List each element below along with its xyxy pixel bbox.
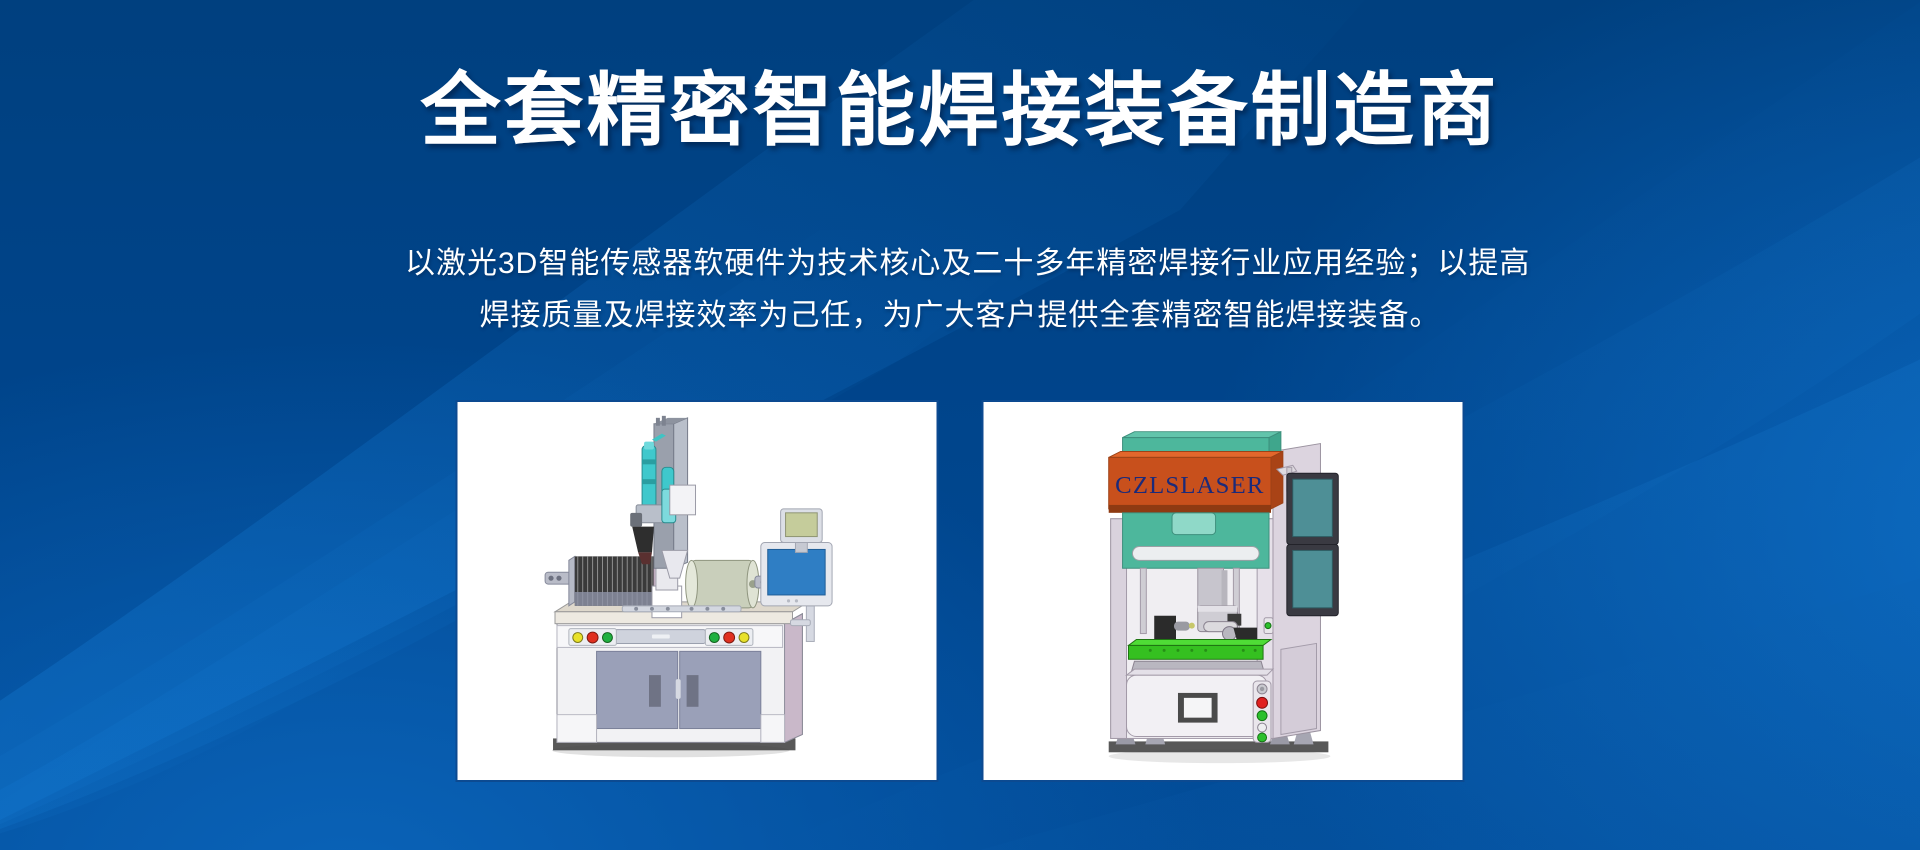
- hero-banner: 全套精密智能焊接装备制造商 以激光3D智能传感器软硬件为技术核心及二十多年精密焊…: [0, 0, 1920, 850]
- product-image-gallery: CZLSLASER: [456, 400, 1465, 782]
- page-title: 全套精密智能焊接装备制造商: [0, 66, 1920, 156]
- product-card-right[interactable]: CZLSLASER: [982, 400, 1465, 782]
- brand-label: CZLSLASER: [1115, 472, 1264, 499]
- enclosed-laser-welding-machine-image: CZLSLASER: [984, 402, 1463, 780]
- precision-laser-welding-workstation-image: [458, 402, 937, 780]
- subtitle-line-2: 焊接质量及焊接效率为己任，为广大客户提供全套精密智能焊接装备。: [405, 290, 1515, 342]
- product-card-left[interactable]: [456, 400, 939, 782]
- banner-subtitle: 以激光3D智能传感器软硬件为技术核心及二十多年精密焊接行业应用经验；以提高 焊接…: [405, 238, 1515, 342]
- subtitle-line-1: 以激光3D智能传感器软硬件为技术核心及二十多年精密焊接行业应用经验；以提高: [405, 238, 1515, 290]
